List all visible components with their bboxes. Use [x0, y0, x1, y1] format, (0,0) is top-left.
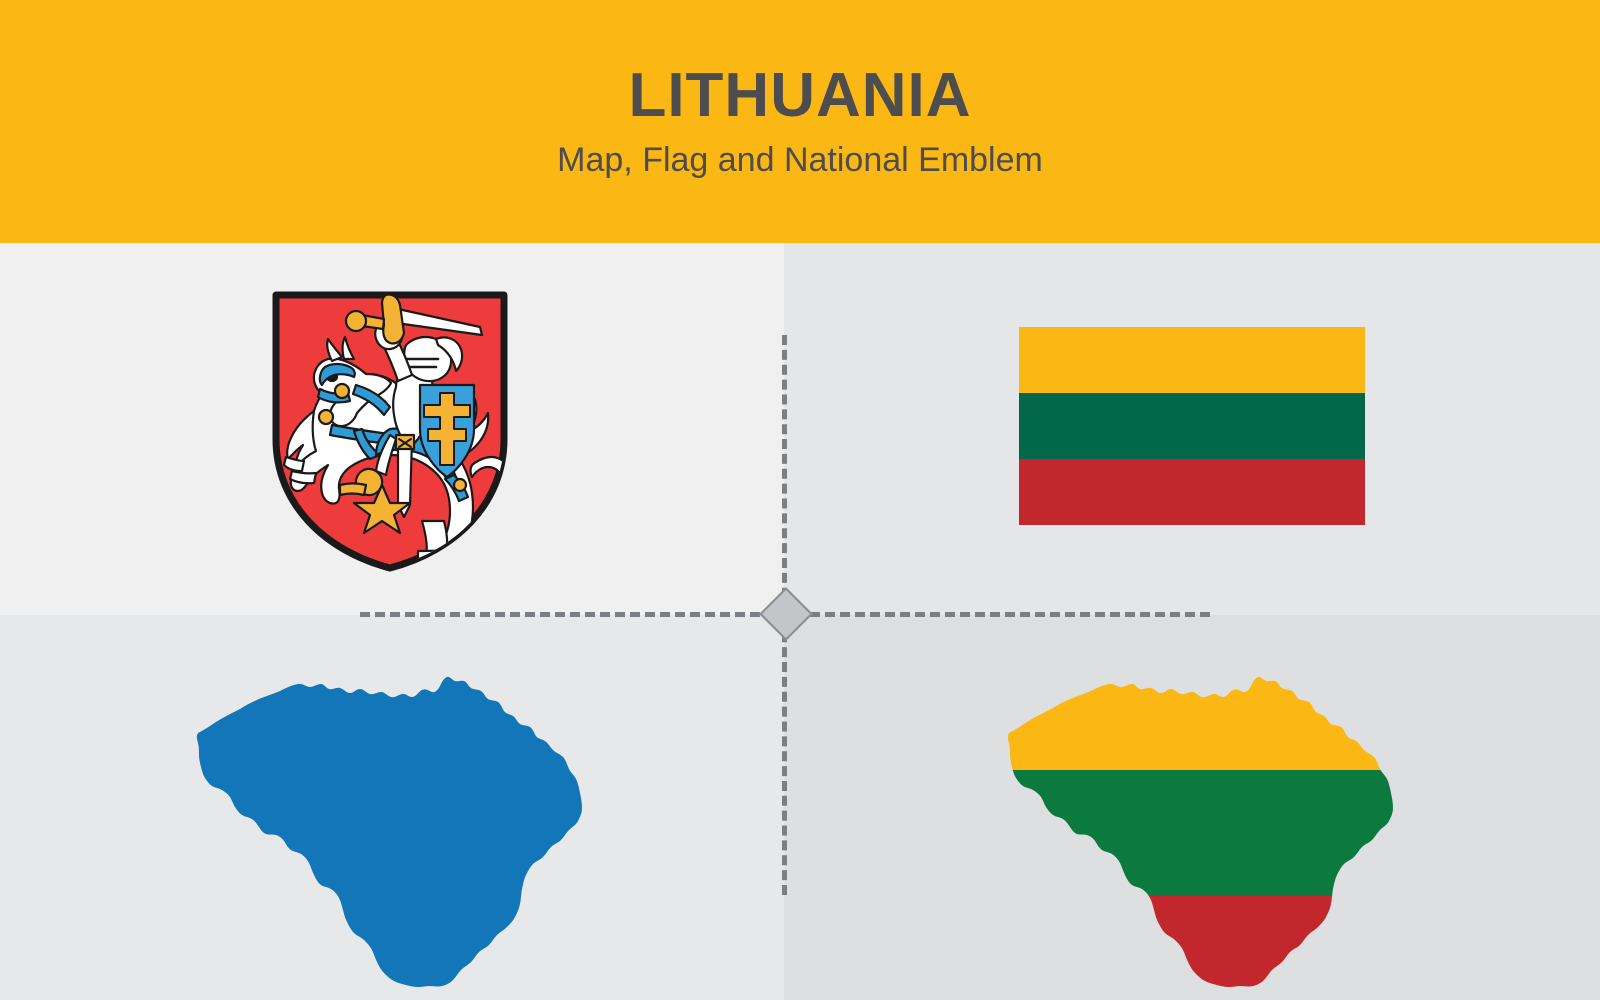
lithuania-outline-flag	[985, 634, 1415, 1000]
map-flag-panel	[784, 615, 1600, 1000]
harness-boss-2	[319, 410, 333, 424]
page-title: LITHUANIA	[628, 63, 971, 128]
flag-stripe-green	[1019, 393, 1365, 459]
harness-boss-1	[335, 384, 349, 398]
map-stripe-yellow	[985, 634, 1415, 770]
flag-stripe-yellow	[1019, 327, 1365, 393]
horse-front-hoof-lower	[290, 471, 316, 483]
flag-panel	[784, 243, 1600, 615]
lithuania-outline-plain	[197, 676, 582, 986]
header-band: LITHUANIA Map, Flag and National Emblem	[0, 0, 1600, 243]
harness-boss-4	[454, 479, 466, 491]
flag-stripe-red	[1019, 459, 1365, 525]
map-of-lithuania-flag	[985, 634, 1415, 994]
coat-of-arms-icon	[270, 289, 510, 574]
poster-canvas: LITHUANIA Map, Flag and National Emblem	[0, 0, 1600, 1000]
flag-of-lithuania	[1019, 327, 1365, 526]
map-plain-panel	[0, 615, 784, 1000]
map-stripe-red	[985, 896, 1415, 1000]
emblem-panel	[0, 243, 784, 615]
stirrup-strap	[340, 483, 366, 495]
map-stripe-green	[985, 770, 1415, 896]
sword-pommel	[346, 311, 366, 331]
map-of-lithuania-plain	[174, 634, 604, 994]
page-subtitle: Map, Flag and National Emblem	[557, 142, 1043, 179]
